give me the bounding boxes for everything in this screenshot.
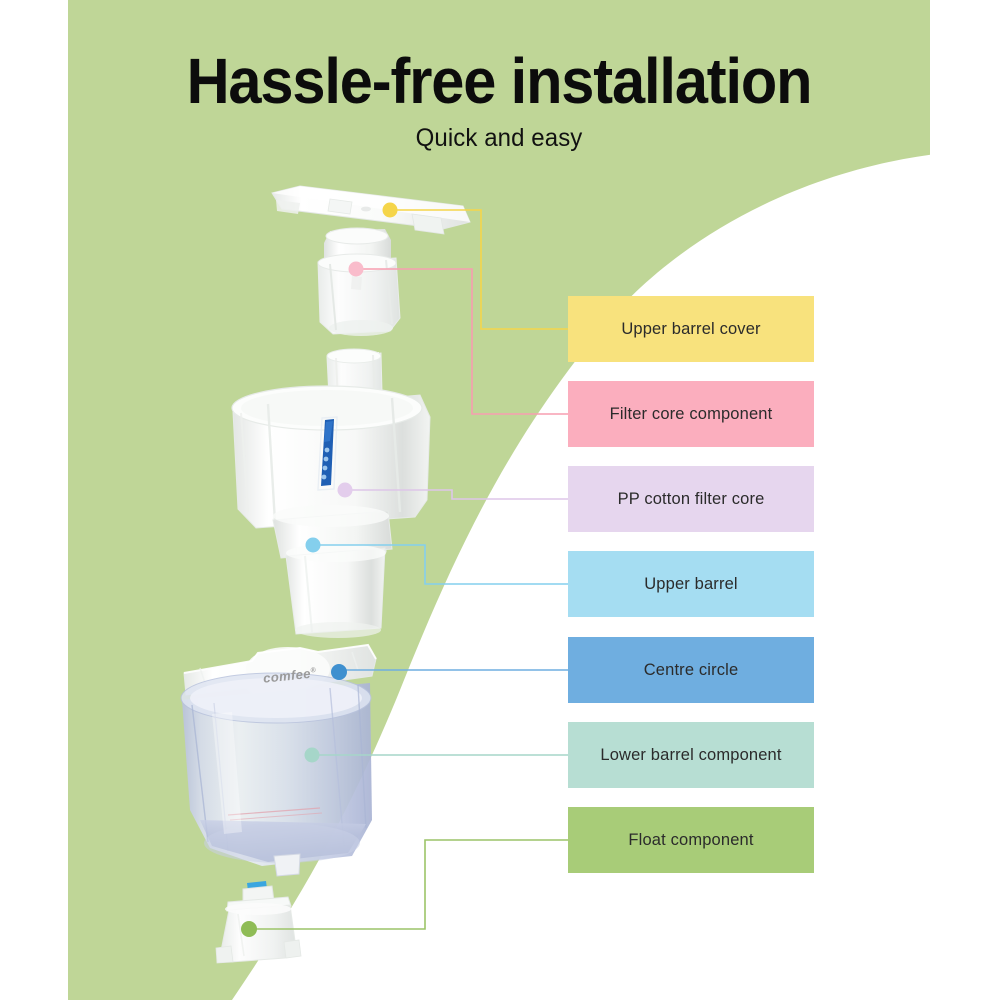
label-text: Filter core component xyxy=(610,405,773,424)
label-chip-lower-barrel-component[interactable]: Lower barrel component xyxy=(568,722,814,788)
infographic-canvas: Hassle-free installation Quick and easy xyxy=(0,0,1000,1000)
label-chip-float-component[interactable]: Float component xyxy=(568,807,814,873)
label-chip-pp-cotton-filter-core[interactable]: PP cotton filter core xyxy=(568,466,814,532)
label-chip-filter-core-component[interactable]: Filter core component xyxy=(568,381,814,447)
label-text: PP cotton filter core xyxy=(618,490,765,509)
page-subtitle: Quick and easy xyxy=(85,124,913,153)
label-text: Upper barrel xyxy=(644,575,738,594)
label-text: Float component xyxy=(628,831,753,850)
label-chip-centre-circle[interactable]: Centre circle xyxy=(568,637,814,703)
label-text: Upper barrel cover xyxy=(621,320,760,339)
label-text: Centre circle xyxy=(644,661,739,680)
label-chip-upper-barrel[interactable]: Upper barrel xyxy=(568,551,814,617)
label-text: Lower barrel component xyxy=(600,746,781,765)
page-title: Hassle-free installation xyxy=(98,48,900,115)
label-chip-upper-barrel-cover[interactable]: Upper barrel cover xyxy=(568,296,814,362)
